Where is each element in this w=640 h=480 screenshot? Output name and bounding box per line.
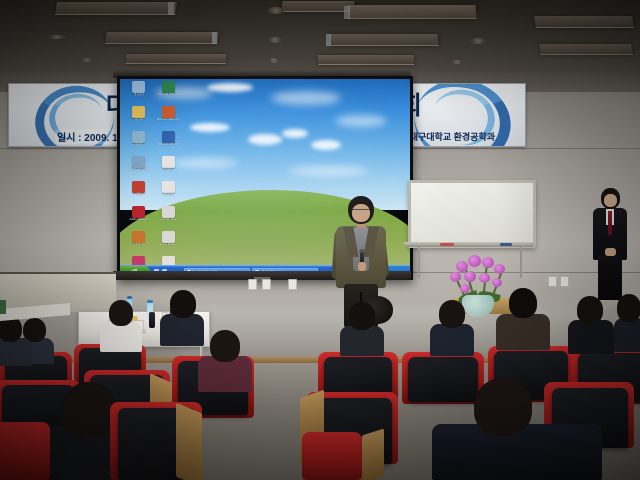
- whiteboard-stand-leg: [520, 246, 522, 278]
- audience-torso: [160, 314, 204, 346]
- text-document-icon: [162, 156, 175, 168]
- ceiling-light-panel: [55, 2, 177, 15]
- audience-head: [509, 288, 537, 318]
- staff-hands: [605, 248, 616, 256]
- cloud: [335, 115, 387, 127]
- audience-head: [210, 330, 240, 362]
- audience-head: [349, 302, 375, 330]
- audience-head: [474, 378, 532, 436]
- audience-torso: [100, 322, 142, 352]
- desktop-icon[interactable]: 내 네트워크 환경: [123, 156, 155, 180]
- whiteboard-stand-leg: [418, 246, 420, 278]
- audience-head: [170, 290, 196, 318]
- cloud: [190, 123, 230, 132]
- ceiling-light-edge: [344, 6, 350, 19]
- desktop-icon[interactable]: Microsoft Office Po...: [153, 106, 185, 130]
- cloud: [282, 129, 308, 138]
- desktop-icon[interactable]: Adobe Reader 9: [123, 206, 155, 230]
- wall-outlet: [548, 276, 557, 287]
- bottle-cap: [147, 300, 153, 303]
- audience-member: [498, 288, 548, 350]
- ceiling-light-panel: [539, 44, 633, 55]
- desktop-icon[interactable]: DAUM CAFE: [153, 206, 185, 230]
- document-icon: [162, 181, 175, 193]
- ceiling-light-panel: [534, 16, 634, 28]
- my-computer-icon: [132, 81, 145, 93]
- desktop-icon[interactable]: 내 컴퓨터: [123, 81, 155, 105]
- staff-face: [604, 194, 617, 207]
- audience-member: [200, 330, 250, 392]
- seat-rim[interactable]: [302, 432, 362, 480]
- desktop-icon[interactable]: Microsoft Office E...: [153, 81, 185, 105]
- daum-potplayer-icon: [162, 231, 175, 243]
- my-documents-icon: [132, 106, 145, 118]
- desktop-icon[interactable]: 설계도면: [153, 181, 185, 205]
- ceiling-light-edge: [326, 34, 331, 46]
- audience-torso: [0, 338, 32, 366]
- cloud: [207, 83, 253, 92]
- network-places-icon: [132, 156, 145, 168]
- wall-outlet: [288, 279, 297, 290]
- microsoft-powerpoint-icon: [162, 106, 175, 118]
- adobe-reader-icon: [132, 206, 145, 218]
- desktop-icon[interactable]: 내 문서: [123, 106, 155, 130]
- recycle-bin-icon: [132, 131, 145, 143]
- ceiling-light-panel: [347, 5, 476, 19]
- audience-head: [109, 300, 133, 326]
- ceiling-spot-light: [268, 58, 280, 63]
- microsoft-excel-icon: [162, 81, 175, 93]
- whiteboard-marker-tray: [404, 242, 534, 247]
- seat-row-front-left: [0, 412, 250, 480]
- whiteboard: [408, 180, 536, 248]
- bottle-on-left-table: [0, 300, 6, 314]
- lecture-hall-photo: 대구대학교 졸업작품 발표회 대구대학교 졸업작품 발표회 일시 : 2009.…: [0, 0, 640, 480]
- program-shortcut-icon: [132, 181, 145, 193]
- daum-cafe-icon: [162, 206, 175, 218]
- orchid-bloom: [492, 278, 502, 287]
- ceiling-speaker: [470, 38, 486, 44]
- armrest[interactable]: [176, 403, 202, 480]
- ceiling-vent: [80, 58, 94, 62]
- audience-torso: [496, 314, 550, 350]
- desktop-icon[interactable]: 발표자료: [153, 156, 185, 180]
- audience-member: [430, 300, 474, 356]
- wall-outlet: [560, 276, 569, 287]
- orchid-bloom: [482, 257, 494, 268]
- audience-torso: [614, 318, 640, 352]
- orchid-bloom: [450, 272, 461, 282]
- ceiling-light-panel: [318, 55, 415, 65]
- desktop-icon-column-left: 내 컴퓨터 내 문서 휴지통 내 네트워크 환경 알집 Adobe Reader…: [123, 81, 155, 277]
- orchid-bloom: [494, 264, 505, 274]
- orchid-bloom: [479, 273, 490, 283]
- ceiling: [0, 0, 640, 78]
- ceiling-light-panel: [126, 54, 227, 64]
- necktie: [608, 211, 612, 235]
- desktop-icon[interactable]: 곰플레이어: [123, 231, 155, 255]
- audience-member: [614, 294, 640, 352]
- glasses-icon: [352, 209, 370, 214]
- audience-torso: [568, 320, 614, 354]
- desktop-icon[interactable]: Microsoft Office W...: [153, 131, 185, 155]
- audience-member: [100, 300, 142, 352]
- orchid-bloom: [468, 255, 481, 267]
- orchid-bloom: [464, 271, 476, 282]
- wall-outlet: [248, 279, 257, 290]
- audience-member: [568, 296, 612, 354]
- audience-member: [340, 302, 384, 356]
- seat-rim[interactable]: [0, 422, 50, 480]
- desktop-icon-column-right: Microsoft Office E... Microsoft Office P…: [153, 81, 185, 277]
- ceiling-speaker: [48, 35, 66, 39]
- seat-row-front-right: [318, 432, 640, 480]
- ceiling-spot-light: [268, 7, 284, 14]
- desktop-icon[interactable]: Daum PotPla...: [153, 231, 185, 255]
- beverage-bottle: [149, 312, 155, 328]
- desktop-icon[interactable]: 알집: [123, 181, 155, 205]
- ceiling-light-panel: [105, 32, 218, 44]
- ceiling-light-edge: [212, 32, 217, 44]
- audience-torso: [430, 324, 474, 356]
- whiteboard-marker[interactable]: [440, 243, 454, 246]
- media-player-icon: [132, 231, 145, 243]
- staff-in-suit: [590, 188, 630, 300]
- ceiling-light-edge: [168, 2, 174, 15]
- audience-head: [577, 296, 603, 324]
- cloud: [271, 91, 341, 105]
- audience-head: [617, 294, 640, 322]
- audience-member: [0, 316, 30, 366]
- ceiling-light-panel: [329, 34, 438, 46]
- presenter-hand: [358, 262, 366, 271]
- armrest[interactable]: [362, 428, 384, 480]
- ceiling-vent: [450, 60, 464, 64]
- desktop-icon[interactable]: 휴지통: [123, 131, 155, 155]
- orchid-bloom: [456, 261, 468, 272]
- audience-member: [160, 290, 204, 346]
- bottle-cap: [127, 296, 132, 299]
- ceiling-spot-light: [268, 37, 282, 43]
- wall-outlet: [262, 279, 271, 290]
- microsoft-word-icon: [162, 131, 175, 143]
- audience-head: [439, 300, 465, 328]
- audience-torso: [340, 326, 384, 356]
- whiteboard-marker[interactable]: [500, 243, 512, 246]
